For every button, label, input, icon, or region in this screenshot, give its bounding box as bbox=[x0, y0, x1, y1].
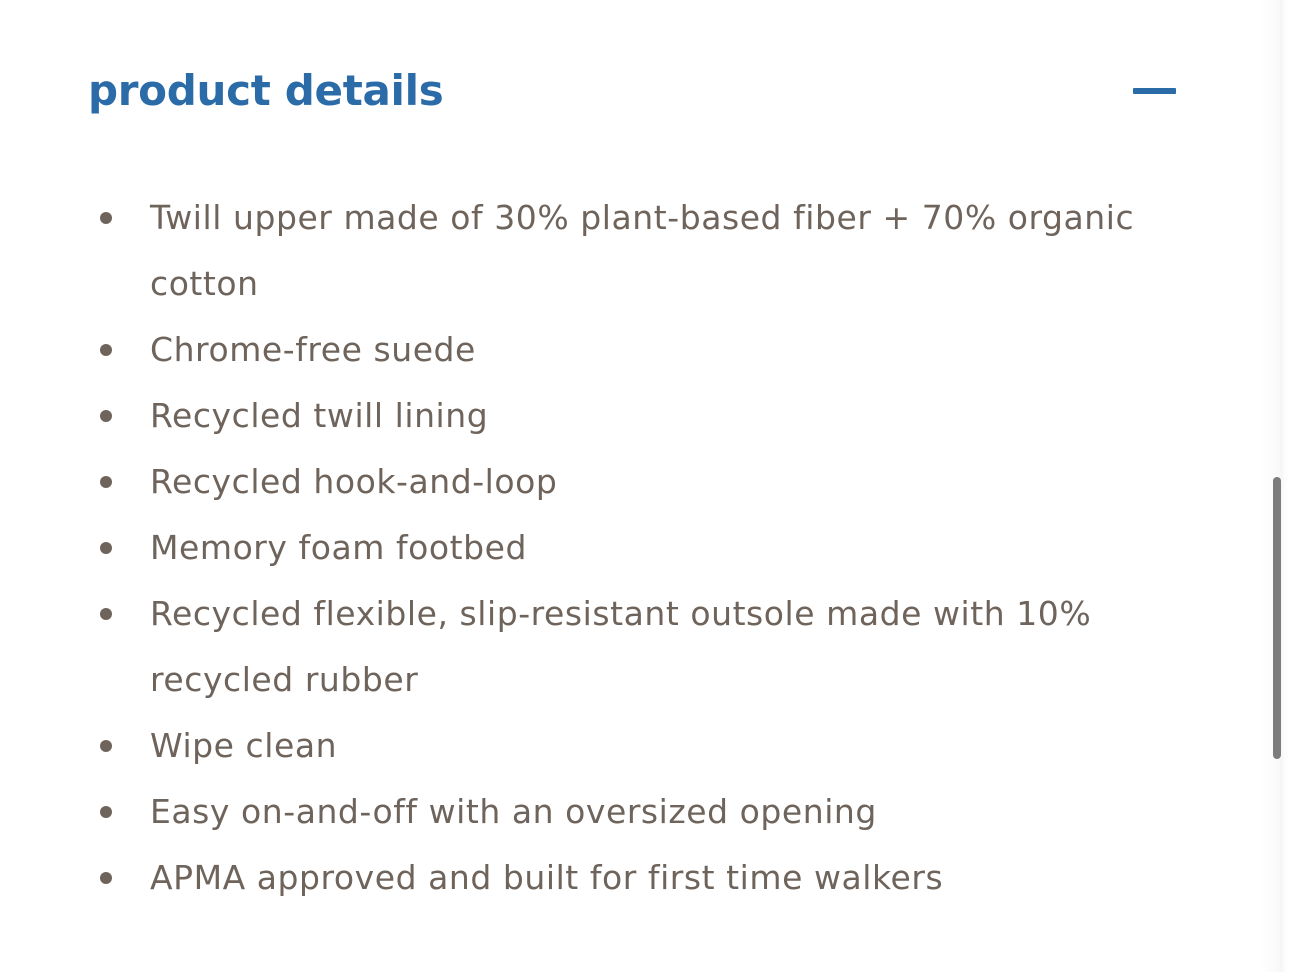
list-item: Memory foam footbed bbox=[88, 515, 1198, 581]
list-item: Recycled flexible, slip-resistant outsol… bbox=[88, 581, 1198, 713]
product-details-list: Twill upper made of 30% plant-based fibe… bbox=[88, 185, 1198, 911]
bullet-icon bbox=[100, 344, 112, 356]
list-item-label: Memory foam footbed bbox=[150, 515, 1198, 581]
bullet-icon bbox=[100, 410, 112, 422]
minus-icon bbox=[1133, 88, 1176, 94]
scrollbar-thumb[interactable] bbox=[1273, 477, 1281, 759]
collapse-toggle-button[interactable] bbox=[1132, 75, 1176, 107]
list-item: Easy on-and-off with an oversized openin… bbox=[88, 779, 1198, 845]
list-item: Twill upper made of 30% plant-based fibe… bbox=[88, 185, 1198, 317]
product-details-accordion: product details Twill upper made of 30% … bbox=[0, 0, 1262, 972]
list-item-label: Wipe clean bbox=[150, 713, 1198, 779]
list-item-label: Recycled twill lining bbox=[150, 383, 1198, 449]
accordion-header-product-details[interactable]: product details bbox=[88, 58, 1176, 124]
list-item: Chrome-free suede bbox=[88, 317, 1198, 383]
bullet-icon bbox=[100, 740, 112, 752]
bullet-icon bbox=[100, 872, 112, 884]
list-item-label: Twill upper made of 30% plant-based fibe… bbox=[150, 185, 1198, 317]
list-item-label: Easy on-and-off with an oversized openin… bbox=[150, 779, 1198, 845]
bullet-icon bbox=[100, 542, 112, 554]
bullet-icon bbox=[100, 476, 112, 488]
page-surface: product details Twill upper made of 30% … bbox=[0, 0, 1290, 972]
list-item: Recycled twill lining bbox=[88, 383, 1198, 449]
bullet-icon bbox=[100, 212, 112, 224]
vertical-scrollbar[interactable] bbox=[1270, 0, 1284, 972]
page-title: product details bbox=[88, 70, 443, 112]
list-item: Wipe clean bbox=[88, 713, 1198, 779]
list-item-label: Recycled hook-and-loop bbox=[150, 449, 1198, 515]
list-item-label: Chrome-free suede bbox=[150, 317, 1198, 383]
list-item: Recycled hook-and-loop bbox=[88, 449, 1198, 515]
bullet-icon bbox=[100, 608, 112, 620]
list-item-label: APMA approved and built for first time w… bbox=[150, 845, 1198, 911]
bullet-icon bbox=[100, 806, 112, 818]
list-item-label: Recycled flexible, slip-resistant outsol… bbox=[150, 581, 1198, 713]
list-item: APMA approved and built for first time w… bbox=[88, 845, 1198, 911]
